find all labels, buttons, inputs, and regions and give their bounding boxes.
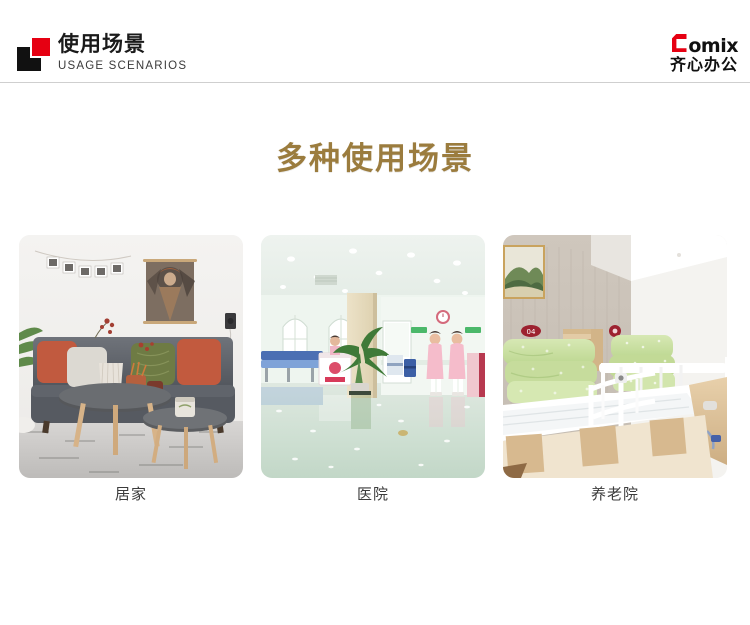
comix-c-icon [672, 34, 687, 52]
page-title: 使用场景 [58, 32, 187, 57]
scenario-card-list: 04 [19, 235, 727, 478]
svg-text:04: 04 [527, 328, 536, 336]
scenario-caption-list: 居家 医院 养老院 [19, 484, 727, 510]
living-room-photo [19, 235, 243, 478]
brand-logo: omix 齐心办公 [670, 34, 738, 75]
page-header: 使用场景 USAGE SCENARIOS omix 齐心办公 [0, 0, 750, 83]
section-title: 多种使用场景 [0, 133, 750, 178]
header-title-group: 使用场景 USAGE SCENARIOS [58, 32, 187, 74]
caption-home: 居家 [19, 484, 243, 510]
header-divider [0, 82, 750, 83]
caption-nursing-home: 养老院 [503, 484, 727, 510]
caption-hospital: 医院 [261, 484, 485, 510]
hospital-lobby-photo [261, 235, 485, 478]
page-subtitle: USAGE SCENARIOS [58, 59, 187, 74]
scenario-card-nursing-home[interactable]: 04 [503, 235, 727, 478]
header-brand-block: 使用场景 USAGE SCENARIOS [17, 32, 187, 74]
brand-wordmark-row: omix [670, 34, 738, 55]
scenario-card-hospital[interactable] [261, 235, 485, 478]
slide-page: 使用场景 USAGE SCENARIOS omix 齐心办公 多种使用场景 [0, 0, 750, 625]
nursing-home-room-photo: 04 [503, 235, 727, 478]
comix-square-mark-icon [17, 34, 53, 72]
scenario-card-home[interactable] [19, 235, 243, 478]
brand-wordmark-text: omix [688, 37, 738, 55]
brand-name-cn: 齐心办公 [670, 56, 738, 75]
